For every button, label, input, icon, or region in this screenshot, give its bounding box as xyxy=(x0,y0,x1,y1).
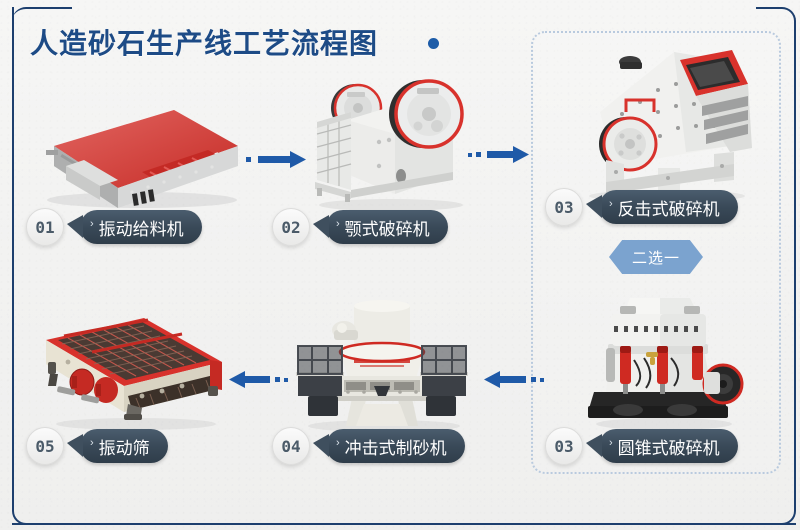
step-number-04: 04 xyxy=(272,427,310,465)
label-tail xyxy=(313,215,329,238)
label-tail xyxy=(67,434,83,457)
step-label-vibrating-feeder[interactable]: › 振动给料机 xyxy=(80,210,202,244)
machine-jaw-crusher xyxy=(303,62,479,217)
machine-cone-crusher xyxy=(572,288,752,435)
machine-impact-crusher xyxy=(562,48,762,208)
step-label-text: 振动给料机 xyxy=(99,215,184,240)
chevron-right-icon: › xyxy=(90,437,94,449)
label-tail xyxy=(586,434,602,457)
chevron-right-icon: › xyxy=(90,218,94,230)
step-number-03-cone: 03 xyxy=(545,427,583,465)
option-badge: 二选一 xyxy=(609,240,703,274)
chevron-right-icon: › xyxy=(336,218,340,230)
step-label-vibrating-screen[interactable]: › 振动筛 xyxy=(80,429,168,463)
arrow-crusher-to-sandmaker xyxy=(483,368,545,392)
step-label-impact-crusher[interactable]: › 反击式破碎机 xyxy=(599,190,738,224)
chevron-right-icon: › xyxy=(609,437,613,449)
arrow-jaw-to-crusher xyxy=(468,143,530,167)
step-label-vsi-sand-maker[interactable]: › 冲击式制砂机 xyxy=(326,429,465,463)
page-title: 人造砂石生产线工艺流程图 xyxy=(30,22,378,62)
bullet-dot-icon xyxy=(428,38,439,49)
step-label-text: 冲击式制砂机 xyxy=(345,434,447,459)
step-number-02: 02 xyxy=(272,208,310,246)
label-tail xyxy=(586,195,602,218)
step-label-text: 圆锥式破碎机 xyxy=(618,434,720,459)
chevron-right-icon: › xyxy=(336,437,340,449)
step-number-03-impact: 03 xyxy=(545,188,583,226)
machine-vsi-sand-maker xyxy=(276,300,488,437)
arrow-sandmaker-to-screen xyxy=(228,368,290,392)
machine-vibrating-screen xyxy=(32,300,234,437)
outer-frame-bottom xyxy=(12,523,796,525)
arrow-feeder-to-jaw xyxy=(246,148,308,172)
step-label-text: 振动筛 xyxy=(99,434,150,459)
step-number-05: 05 xyxy=(26,427,64,465)
label-tail xyxy=(313,434,329,457)
step-number-01: 01 xyxy=(26,208,64,246)
chevron-right-icon: › xyxy=(609,198,613,210)
step-label-text: 反击式破碎机 xyxy=(618,195,720,220)
step-label-cone-crusher[interactable]: › 圆锥式破碎机 xyxy=(599,429,738,463)
flowchart-canvas: 人造砂石生产线工艺流程图 xyxy=(0,0,800,530)
machine-vibrating-feeder xyxy=(22,88,252,213)
option-badge-text: 二选一 xyxy=(632,247,680,268)
step-label-text: 颚式破碎机 xyxy=(345,215,430,240)
label-tail xyxy=(67,215,83,238)
step-label-jaw-crusher[interactable]: › 颚式破碎机 xyxy=(326,210,448,244)
